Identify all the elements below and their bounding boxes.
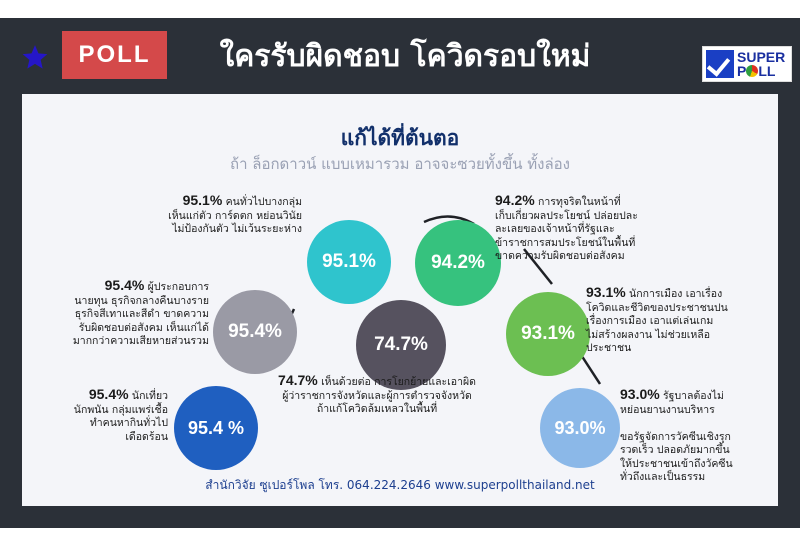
note-74-7: 74.7% เห็นด้วยต่อ การโยกย้ายและเอาผิดผู้… bbox=[232, 374, 522, 417]
content-panel: แก้ได้ที่ต้นตอ ถ้า ล็อกดาวน์ แบบเหมารวม … bbox=[22, 94, 778, 506]
check-icon bbox=[706, 50, 734, 78]
bubble-94-2[interactable]: 94.2% bbox=[415, 220, 501, 306]
note-95-1: 95.1% คนทั่วไปบางกลุ่มเห็นแก่ตัว การ์ดตก… bbox=[122, 194, 302, 237]
star-icon bbox=[22, 44, 48, 70]
bubble-93-1-value: 93.1% bbox=[521, 323, 575, 345]
bubble-93-0-value: 93.0% bbox=[554, 418, 605, 439]
bubble-94-2-value: 94.2% bbox=[431, 252, 485, 274]
bubble-95-4-blue-value: 95.4 % bbox=[188, 418, 244, 439]
note-93-0-pct: 93.0% bbox=[620, 386, 660, 402]
logo-p-letter: P bbox=[737, 64, 746, 78]
note-93-0: 93.0% รัฐบาลต้องไม่หย่อนยานงานบริหารขอรั… bbox=[620, 388, 778, 485]
logo-line-poll: P LL bbox=[737, 64, 785, 78]
superpoll-logo: SUPER P LL bbox=[702, 46, 792, 82]
pie-chart-icon bbox=[746, 65, 758, 77]
bubble-95-4-gray-value: 95.4% bbox=[228, 321, 282, 343]
note-93-1: 93.1% นักการเมือง เอาเรื่องโควิดและชีวิต… bbox=[586, 286, 778, 356]
bubble-95-1-value: 95.1% bbox=[322, 251, 376, 273]
note-74-7-pct: 74.7% bbox=[278, 372, 318, 388]
bubble-93-0[interactable]: 93.0% bbox=[540, 388, 620, 468]
page-title: ใครรับผิดชอบ โควิดรอบใหม่ bbox=[160, 32, 650, 80]
poll-badge: POLL bbox=[62, 31, 167, 79]
bubble-95-1[interactable]: 95.1% bbox=[307, 220, 391, 304]
logo-ll-letters: LL bbox=[758, 64, 775, 78]
note-94-2-pct: 94.2% bbox=[495, 192, 535, 208]
note-94-2: 94.2% การทุจริตในหน้าที่เก็บเกี่ยวผลประโ… bbox=[495, 194, 727, 264]
note-93-1-pct: 93.1% bbox=[586, 284, 626, 300]
bubble-95-4-gray[interactable]: 95.4% bbox=[213, 290, 297, 374]
note-95-1-pct: 95.1% bbox=[183, 192, 223, 208]
note-93-0-text: รัฐบาลต้องไม่หย่อนยานงานบริหารขอรัฐจัดกา… bbox=[620, 390, 733, 483]
logo-line-super: SUPER bbox=[737, 50, 785, 64]
poll-badge-label: POLL bbox=[79, 41, 151, 69]
footer-credit: สำนักวิจัย ซูเปอร์โพล โทร. 064.224.2646 … bbox=[22, 476, 778, 495]
header-bar: POLL ใครรับผิดชอบ โควิดรอบใหม่ SUPER P L… bbox=[0, 18, 800, 92]
bubble-93-1[interactable]: 93.1% bbox=[506, 292, 590, 376]
infographic-frame: POLL ใครรับผิดชอบ โควิดรอบใหม่ SUPER P L… bbox=[0, 18, 800, 528]
note-95-4-blue-pct: 95.4% bbox=[89, 386, 129, 402]
note-95-4-gray-pct: 95.4% bbox=[105, 277, 145, 293]
note-95-4-gray: 95.4% ผู้ประกอบการนายทุน ธุรกิจกลางคืนบา… bbox=[27, 279, 209, 349]
bubble-74-7-value: 74.7% bbox=[374, 334, 428, 356]
note-95-4-blue: 95.4% นักเที่ยวนักพนัน กลุ่มแพร่เชื้อทำค… bbox=[28, 388, 168, 444]
logo-text: SUPER P LL bbox=[737, 50, 785, 78]
